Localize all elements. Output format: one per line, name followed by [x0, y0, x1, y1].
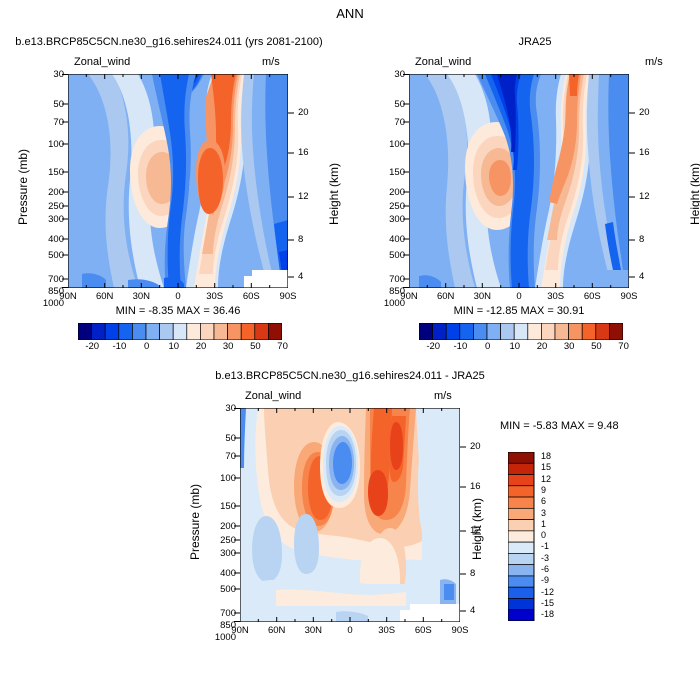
panel-model-pressure-tick-marks — [62, 74, 69, 289]
panel-diff-plot[interactable] — [240, 408, 460, 622]
panel-model-variable-label: Zonal_wind — [74, 56, 130, 68]
panel-model-plot[interactable] — [68, 74, 288, 288]
panel-obs-height-ticks: 20 16 12 8 4 — [639, 68, 665, 298]
panel-model-height-tick-marks — [288, 74, 295, 289]
panel-obs-subtitle: JRA25 — [370, 36, 700, 48]
panel-obs-plot[interactable] — [409, 74, 629, 288]
panel-diff-minmax: MIN = -5.83 MAX = 9.48 — [500, 420, 680, 432]
panel-obs-minmax: MIN = -12.85 MAX = 30.91 — [409, 305, 629, 317]
panel-diff-subtitle: b.e13.BRCP85C5CN.ne30_g16.sehires24.011 … — [185, 370, 515, 382]
panel-diff-colorbar-labels: 18 15 12 9 6 3 1 0 -1 -3 -6 -9 -12 -15 -… — [541, 452, 571, 621]
panel-model-height-ticks: 20 16 12 8 4 — [298, 68, 324, 298]
panel-model-subtitle: b.e13.BRCP85C5CN.ne30_g16.sehires24.011 … — [4, 36, 334, 48]
panel-obs-pressure-tick-marks — [403, 74, 410, 289]
panel-model-colorbar[interactable] — [78, 323, 282, 340]
panel-diff-pressure-tick-marks — [234, 408, 241, 623]
panel-model-y2-axis-label: Height (km) — [327, 163, 341, 225]
panel-diff-variable-label: Zonal_wind — [245, 390, 301, 402]
panel-obs-colorbar[interactable] — [419, 323, 623, 340]
panel-diff-colorbar[interactable] — [508, 452, 538, 621]
page-title: ANN — [0, 6, 700, 21]
panel-diff-height-tick-marks — [460, 408, 467, 623]
panel-obs-units-label: m/s — [645, 56, 663, 68]
panel-model-minmax: MIN = -8.35 MAX = 36.46 — [68, 305, 288, 317]
panel-model-y-axis-label: Pressure (mb) — [16, 149, 30, 225]
panel-obs-variable-label: Zonal_wind — [415, 56, 471, 68]
panel-diff-y-axis-label: Pressure (mb) — [188, 484, 202, 560]
panel-obs-height-tick-marks — [629, 74, 636, 289]
panel-diff-height-ticks: 20 16 12 8 4 — [470, 402, 496, 632]
panel-diff-units-label: m/s — [434, 390, 452, 402]
panel-obs-y2-axis-label: Height (km) — [688, 163, 700, 225]
panel-model-units-label: m/s — [262, 56, 280, 68]
